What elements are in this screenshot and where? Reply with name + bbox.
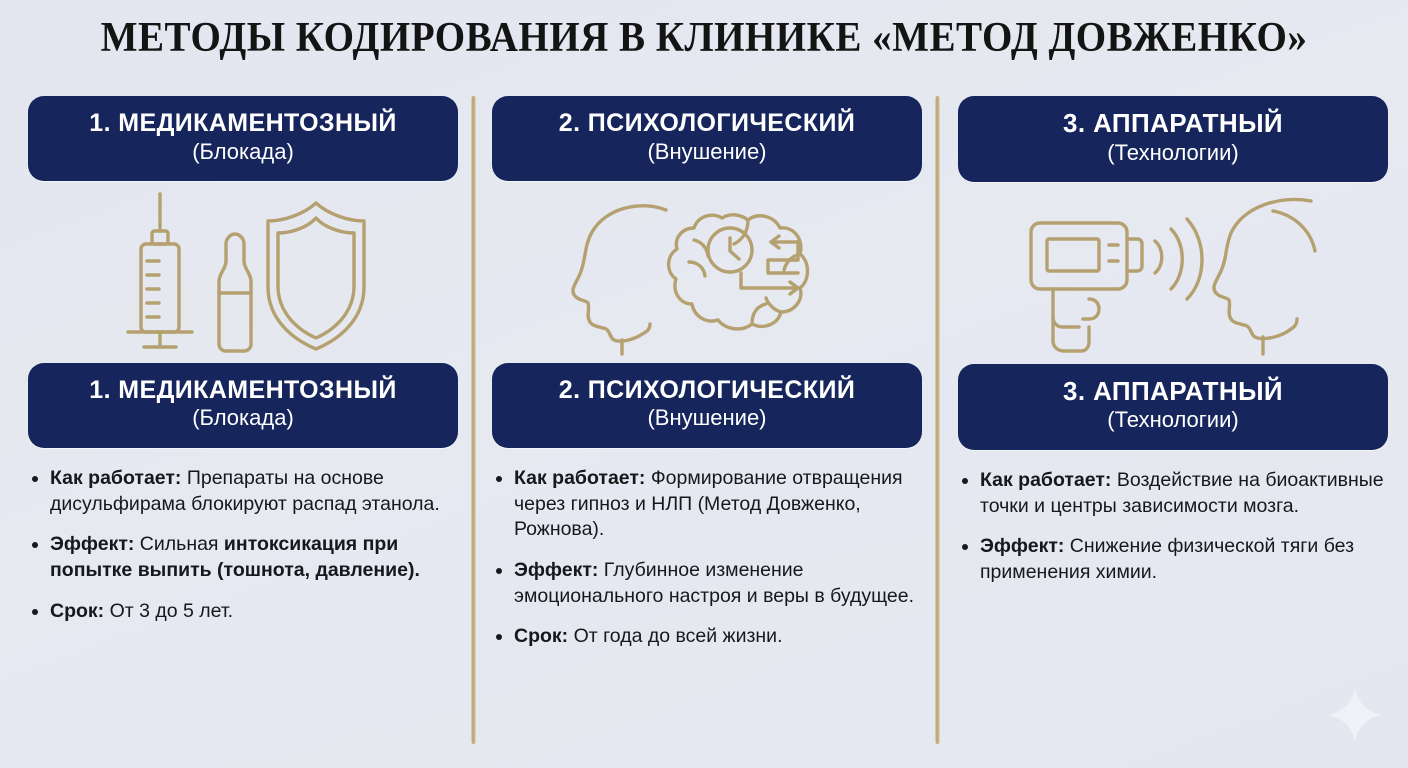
column-medication: 1. МЕДИКАМЕНТОЗНЫЙ (Блокада) [28,96,458,624]
list-item: Эффект: Сильная интоксикация при попытке… [28,532,458,583]
bullet-label: Эффект: [50,533,134,555]
list-item: Эффект: Глубинное изменение эмоционально… [492,558,922,609]
device-waves-head-icon [958,182,1388,364]
list-item: Как работает: Формирование отвращения че… [492,466,922,543]
badge-top-hardware[interactable]: 3. АППАРАТНЫЙ (Технологии) [958,96,1388,182]
syringe-ampoule-shield-icon [28,181,458,363]
infographic-page: МЕТОДЫ КОДИРОВАНИЯ В КЛИНИКЕ «МЕТОД ДОВЖ… [0,0,1408,768]
bullet-text: Сильная [134,533,224,555]
list-item: Как работает: Препараты на основе дисуль… [28,466,458,517]
badge-title: 2. ПСИХОЛОГИЧЕСКИЙ [502,377,912,404]
badge-bottom-hardware[interactable]: 3. АППАРАТНЫЙ (Технологии) [958,364,1388,450]
badge-top-psychological[interactable]: 2. ПСИХОЛОГИЧЕСКИЙ (Внушение) [492,96,922,181]
list-item: Как работает: Воздействие на биоактивные… [958,468,1388,519]
bullet-list-psychological: Как работает: Формирование отвращения че… [492,466,922,650]
list-item: Срок: От года до всей жизни. [492,624,922,650]
badge-top-medication[interactable]: 1. МЕДИКАМЕНТОЗНЫЙ (Блокада) [28,96,458,181]
badge-bottom-psychological[interactable]: 2. ПСИХОЛОГИЧЕСКИЙ (Внушение) [492,363,922,448]
badge-subtitle: (Технологии) [968,407,1378,433]
column-hardware: 3. АППАРАТНЫЙ (Технологии) [958,96,1388,586]
bullet-list-medication: Как работает: Препараты на основе дисуль… [28,466,458,625]
list-item: Срок: От 3 до 5 лет. [28,599,458,625]
badge-subtitle: (Технологии) [968,140,1378,166]
bullet-label: Как работает: [980,469,1111,491]
badge-subtitle: (Внушение) [502,405,912,431]
badge-bottom-medication[interactable]: 1. МЕДИКАМЕНТОЗНЫЙ (Блокада) [28,363,458,448]
bullet-label: Как работает: [50,467,181,489]
bullet-label: Эффект: [980,535,1064,557]
bullet-label: Эффект: [514,559,598,581]
bullet-text: От года до всей жизни. [568,625,782,647]
bullet-label: Срок: [514,625,568,647]
column-divider-2 [935,96,940,744]
list-item: Эффект: Снижение физической тяги без при… [958,534,1388,585]
badge-title: 3. АППАРАТНЫЙ [968,110,1378,138]
bullet-label: Срок: [50,600,104,622]
badge-title: 1. МЕДИКАМЕНТОЗНЫЙ [38,110,448,137]
bullet-text: От 3 до 5 лет. [104,600,233,622]
page-title: МЕТОДЫ КОДИРОВАНИЯ В КЛИНИКЕ «МЕТОД ДОВЖ… [49,14,1358,62]
bullet-label: Как работает: [514,467,645,489]
badge-title: 1. МЕДИКАМЕНТОЗНЫЙ [38,377,448,404]
column-divider-1 [471,96,476,744]
badge-title: 3. АППАРАТНЫЙ [968,378,1378,406]
bullet-list-hardware: Как работает: Воздействие на биоактивные… [958,468,1388,586]
column-psychological: 2. ПСИХОЛОГИЧЕСКИЙ (Внушение) [492,96,922,650]
badge-subtitle: (Блокада) [38,405,448,431]
four-point-sparkle-icon [1326,686,1384,744]
badge-title: 2. ПСИХОЛОГИЧЕСКИЙ [502,110,912,137]
head-brain-clock-icon [492,181,922,363]
badge-subtitle: (Блокада) [38,139,448,165]
badge-subtitle: (Внушение) [502,139,912,165]
